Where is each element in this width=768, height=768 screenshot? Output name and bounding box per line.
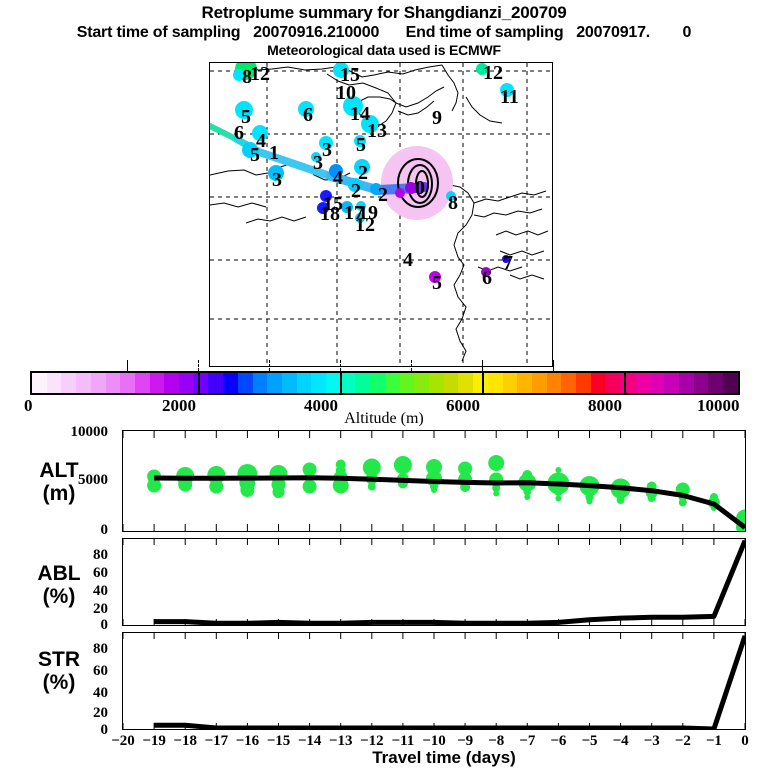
str-ytick-80: 80	[46, 641, 108, 658]
map-day-label: 3	[313, 153, 323, 173]
str-plot	[123, 633, 745, 729]
colorbar-axis-title: Altitude (m)	[0, 410, 768, 428]
str-ytick-40: 40	[46, 685, 108, 702]
map-day-label: 5	[432, 273, 442, 293]
abl-tickmarks	[123, 539, 745, 625]
abl-ytick-40: 40	[46, 583, 108, 600]
x-axis-title: Travel time (days)	[120, 748, 768, 768]
colorbar-swatch-17	[282, 373, 297, 393]
colorbar-swatch-7	[135, 373, 150, 393]
str-ytick-20: 20	[46, 705, 108, 722]
colorbar-swatch-33	[517, 373, 532, 393]
alt-cloud-point	[394, 456, 412, 474]
alt-cloud-point	[554, 488, 562, 496]
alt-cloud-point	[209, 480, 223, 494]
retroplume-map[interactable]: 8121510121114695136453513234220815181719…	[209, 62, 553, 367]
colorbar-tick	[553, 360, 554, 371]
colorbar-divider-4000	[340, 371, 342, 395]
map-day-label: 18	[320, 204, 340, 224]
alt-cloud-point	[431, 487, 437, 493]
colorbar-divider-6000	[482, 371, 484, 395]
colorbar-swatch-0	[32, 373, 47, 393]
colorbar-swatch-31	[488, 373, 503, 393]
alt-cloud-point	[273, 486, 285, 498]
end-time-value-2: 0	[683, 24, 692, 41]
colorbar-swatch-16	[267, 373, 282, 393]
colorbar-swatch-10	[179, 373, 194, 393]
end-time-value: 20070917.	[576, 24, 650, 41]
alt-cloud-point	[303, 480, 317, 494]
abl-ytick-20: 20	[46, 601, 108, 618]
map-day-label: 4	[333, 168, 343, 188]
colorbar-swatch-8	[150, 373, 165, 393]
alt-cloud-point	[648, 494, 656, 502]
map-plume-dot	[395, 188, 405, 198]
map-day-label: 13	[367, 121, 387, 141]
colorbar-swatch-4	[91, 373, 106, 393]
alt-panel[interactable]	[122, 430, 746, 532]
colorbar-swatch-26	[414, 373, 429, 393]
colorbar-swatch-30	[473, 373, 488, 393]
colorbar-swatch-3	[76, 373, 91, 393]
colorbar-swatch-19	[311, 373, 326, 393]
alt-cloud-point	[493, 491, 499, 497]
map-day-label: 9	[432, 108, 442, 128]
colorbar-swatch-34	[532, 373, 547, 393]
colorbar-swatch-47	[723, 373, 738, 393]
alt-cloud-point	[679, 499, 687, 507]
str-series-line	[154, 636, 745, 729]
abl-ytick-60: 60	[46, 565, 108, 582]
map-day-label: 12	[355, 215, 375, 235]
colorbar-divider-8000	[624, 371, 626, 395]
colorbar-swatch-6	[120, 373, 135, 393]
colorbar-swatch-21	[341, 373, 356, 393]
colorbar-swatch-18	[297, 373, 312, 393]
colorbar-swatch-9	[164, 373, 179, 393]
colorbar-swatch-32	[503, 373, 518, 393]
colorbar-swatch-35	[547, 373, 562, 393]
map-day-label: 10	[336, 83, 356, 103]
alt-cloud-point	[617, 496, 625, 504]
alt-ytick-5000: 5000	[46, 472, 108, 489]
colorbar-swatch-2	[61, 373, 76, 393]
start-time-label: Start time of sampling	[77, 24, 241, 41]
alt-cloud-point	[524, 494, 530, 500]
colorbar-swatch-11	[194, 373, 209, 393]
alt-cloud-point	[368, 483, 376, 491]
colorbar-swatch-29	[458, 373, 473, 393]
colorbar-tick	[198, 360, 199, 371]
map-day-label: 8	[448, 193, 458, 213]
colorbar-swatch-39	[605, 373, 620, 393]
map-day-label: 3	[272, 170, 282, 190]
map-day-label: 1	[269, 143, 279, 163]
alt-cloud-point	[147, 479, 161, 493]
str-ytick-0: 0	[46, 722, 108, 739]
colorbar-swatch-36	[561, 373, 576, 393]
start-time-value: 20070916.210000	[253, 24, 379, 41]
colorbar-swatch-20	[326, 373, 341, 393]
abl-ytick-0: 0	[46, 617, 108, 634]
colorbar-tick	[411, 360, 412, 371]
map-day-label: 3	[322, 140, 332, 160]
colorbar-swatch-44	[679, 373, 694, 393]
map-day-label: 2	[351, 181, 361, 201]
sampling-times: Start time of sampling 20070916.210000 E…	[0, 23, 768, 42]
str-panel[interactable]	[122, 632, 746, 730]
str-tickmarks	[123, 633, 745, 729]
colorbar-swatch-46	[708, 373, 723, 393]
map-day-label: 12	[483, 63, 503, 83]
page-title: Retroplume summary for Shangdianzi_20070…	[0, 3, 768, 23]
map-day-label: 0	[415, 178, 425, 198]
map-day-label: 6	[303, 105, 313, 125]
colorbar-tick	[482, 360, 483, 371]
map-day-label: 6	[482, 268, 492, 288]
end-time-label: End time of sampling	[406, 24, 564, 41]
colorbar-tick	[269, 360, 270, 371]
map-graphics	[210, 63, 550, 364]
colorbar-tick	[340, 360, 341, 371]
abl-plot	[123, 539, 745, 625]
colorbar-swatch-1	[47, 373, 62, 393]
map-day-label: 4	[403, 250, 413, 270]
alt-cloud-point	[555, 496, 561, 502]
colorbar-tick	[127, 360, 128, 371]
map-day-label: 7	[503, 253, 513, 273]
alt-cloud-point	[555, 467, 561, 473]
map-day-label: 11	[500, 87, 519, 107]
colorbar-swatch-13	[223, 373, 238, 393]
map-coastlines	[210, 65, 548, 361]
header-block: Retroplume summary for Shangdianzi_20070…	[0, 0, 768, 59]
altitude-colorbar	[30, 371, 740, 395]
alt-plot	[123, 431, 745, 531]
colorbar-swatch-38	[591, 373, 606, 393]
colorbar-swatch-27	[429, 373, 444, 393]
abl-panel[interactable]	[122, 538, 746, 626]
map-day-label: 12	[250, 64, 270, 84]
colorbar-swatch-23	[370, 373, 385, 393]
alt-ytick-0: 0	[46, 522, 108, 539]
colorbar-swatch-24	[385, 373, 400, 393]
str-ytick-60: 60	[46, 663, 108, 680]
alt-cloud-point	[303, 463, 317, 477]
colorbar-swatch-25	[400, 373, 415, 393]
colorbar-swatch-12	[208, 373, 223, 393]
map-day-label: 5	[356, 135, 366, 155]
colorbar-swatch-43	[664, 373, 679, 393]
colorbar-swatch-28	[444, 373, 459, 393]
colorbar-swatch-40	[620, 373, 635, 393]
met-data-line: Meteorological data used is ECMWF	[0, 42, 768, 59]
colorbar-swatch-42	[650, 373, 665, 393]
map-day-label: 6	[234, 123, 244, 143]
map-day-label: 2	[378, 185, 388, 205]
colorbar-swatch-37	[576, 373, 591, 393]
colorbar-swatch-5	[106, 373, 121, 393]
alt-cloud-point	[587, 499, 593, 505]
colorbar-swatch-14	[238, 373, 253, 393]
abl-series-line	[154, 541, 745, 624]
colorbar-swatch-22	[355, 373, 370, 393]
colorbar-swatch-15	[253, 373, 268, 393]
colorbar-swatch-41	[635, 373, 650, 393]
map-day-label: 5	[250, 145, 260, 165]
colorbar-divider-2000	[198, 371, 200, 395]
abl-ytick-80: 80	[46, 547, 108, 564]
alt-cloud-point	[240, 483, 254, 497]
alt-ytick-10000: 10000	[46, 424, 108, 441]
alt-cloud-point	[488, 455, 504, 471]
colorbar-swatch-45	[694, 373, 709, 393]
